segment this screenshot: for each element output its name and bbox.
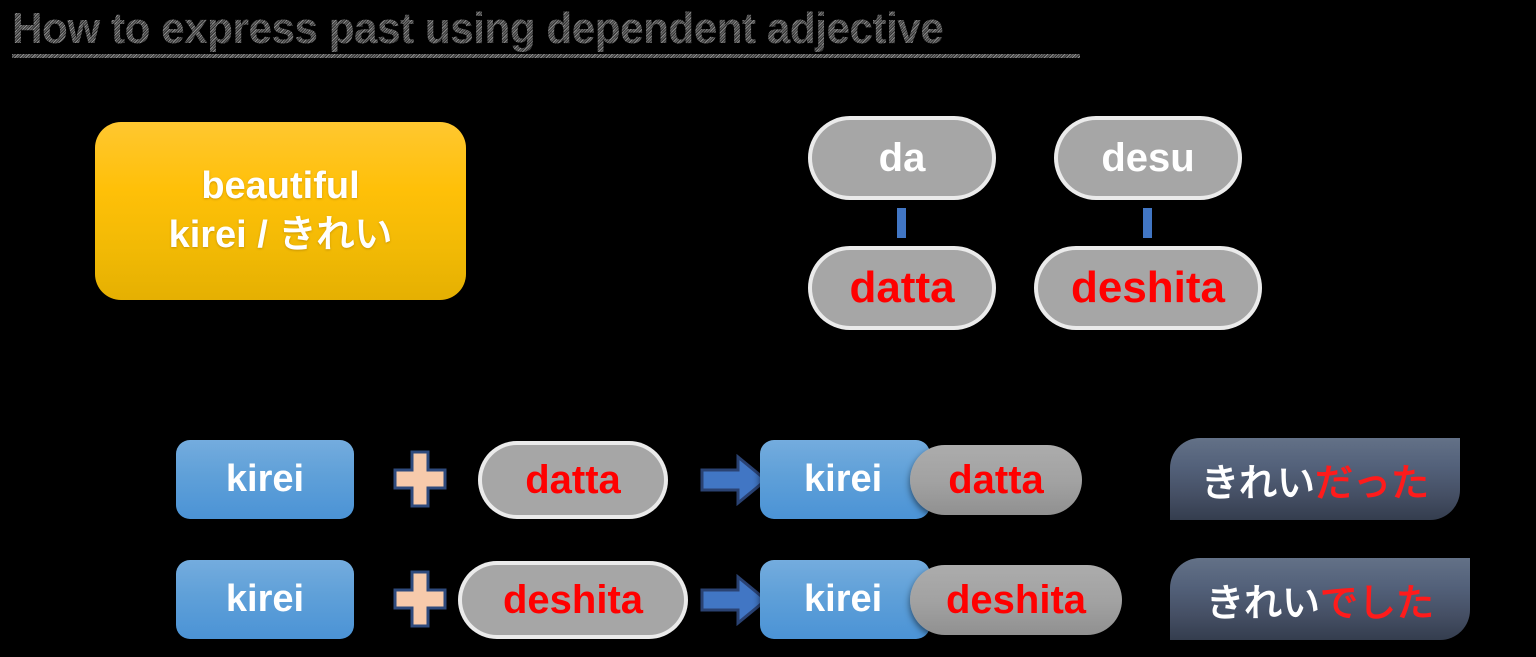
- combined-stem: kirei: [760, 560, 930, 639]
- result-kana-suffix: でした: [1320, 572, 1434, 627]
- equation-row: kirei datta kirei datta きれいだった: [0, 432, 1536, 528]
- combined-suffix: datta: [910, 445, 1082, 515]
- equation-row: kirei deshita kirei deshita きれいでした: [0, 552, 1536, 648]
- page-title: How to express past using dependent adje…: [12, 6, 943, 52]
- result-box: きれいでした: [1170, 558, 1470, 640]
- suffix-pill: deshita: [462, 565, 684, 635]
- slide-canvas: How to express past using dependent adje…: [0, 0, 1536, 657]
- vertical-connector-bar-icon: [897, 208, 906, 238]
- result-kana-suffix: だった: [1315, 452, 1429, 507]
- result-box: きれいだった: [1170, 438, 1460, 520]
- stem-box: kirei: [176, 440, 354, 519]
- arrow-right-icon: [700, 454, 768, 506]
- vertical-connector-bar-icon: [1143, 208, 1152, 238]
- adjective-card: beautiful kirei / きれい: [95, 122, 466, 300]
- arrow-right-icon: [700, 574, 768, 626]
- suffix-pill: datta: [482, 445, 664, 515]
- adjective-english: beautiful: [201, 164, 359, 209]
- plus-icon: [393, 450, 447, 508]
- stem-box: kirei: [176, 560, 354, 639]
- combined-suffix: deshita: [910, 565, 1122, 635]
- result-kana-stem: きれい: [1206, 572, 1320, 627]
- page-title-underline: [12, 54, 1080, 58]
- combined-stem: kirei: [760, 440, 930, 519]
- copula-plain-present: da: [812, 120, 992, 196]
- adjective-romaji-kana: kirei / きれい: [169, 213, 393, 258]
- plus-icon: [393, 570, 447, 628]
- copula-polite-present: desu: [1058, 120, 1238, 196]
- copula-plain-past: datta: [812, 250, 992, 326]
- result-kana-stem: きれい: [1201, 452, 1315, 507]
- copula-polite-past: deshita: [1038, 250, 1258, 326]
